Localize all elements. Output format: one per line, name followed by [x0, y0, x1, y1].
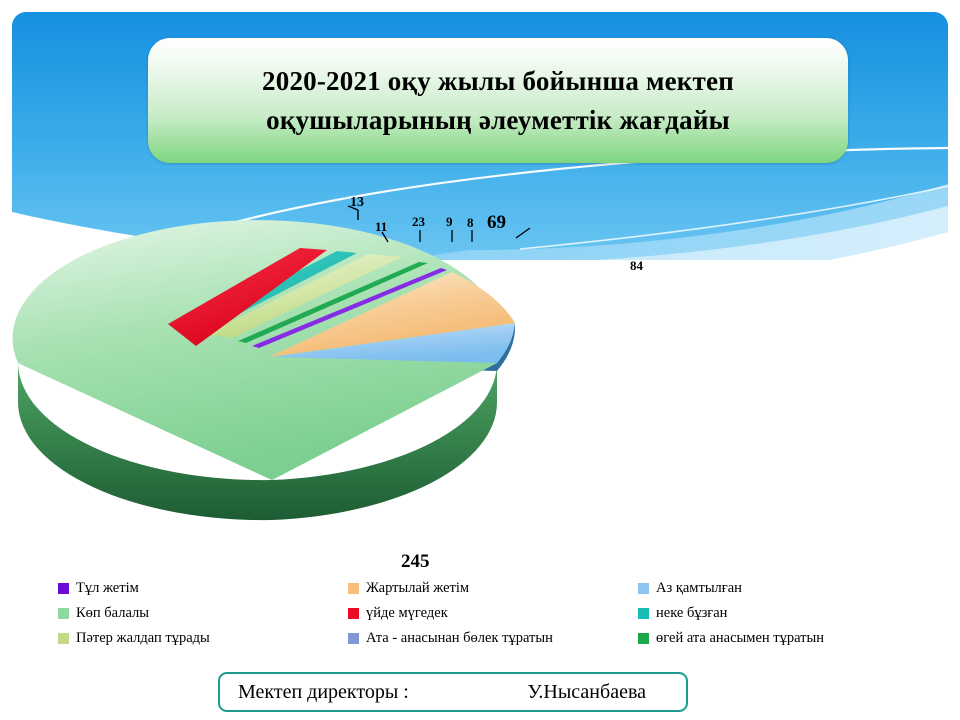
legend-label: үйде мүгедек — [366, 606, 448, 621]
pie-chart — [0, 180, 960, 580]
signature-box: Мектеп директоры : У.Нысанбаева — [218, 672, 688, 712]
director-name: У.Нысанбаева — [528, 681, 646, 704]
pie-data-label: 9 — [446, 214, 453, 230]
legend-item[interactable]: неке бұзған — [638, 601, 908, 626]
legend-swatch-icon — [638, 608, 649, 619]
legend-label: өгей ата анасымен тұратын — [656, 631, 824, 646]
page-title: 2020-2021 оқу жылы бойынша мектеп оқушыл… — [238, 62, 758, 139]
leader-line-69 — [516, 228, 530, 238]
legend-swatch-icon — [58, 608, 69, 619]
legend-swatch-icon — [638, 633, 649, 644]
legend-label: Аз қамтылған — [656, 581, 742, 596]
legend-item[interactable]: Көп балалы — [58, 601, 348, 626]
legend-label: Жартылай жетім — [366, 581, 469, 596]
pie-data-label: 84 — [630, 258, 643, 274]
pie-chart-graphic — [0, 180, 960, 580]
pie-data-label: 23 — [412, 214, 425, 230]
legend-swatch-icon — [638, 583, 649, 594]
legend-swatch-icon — [348, 608, 359, 619]
legend-item[interactable]: үйде мүгедек — [348, 601, 638, 626]
legend-label: Пәтер жалдап тұрады — [76, 631, 210, 646]
legend-label: Ата - анасынан бөлек тұратын — [366, 631, 553, 646]
legend-item[interactable]: Тұл жетім — [58, 576, 348, 601]
legend-swatch-icon — [348, 633, 359, 644]
title-plate: 2020-2021 оқу жылы бойынша мектеп оқушыл… — [148, 38, 848, 163]
title-line-2: оқушыларының әлеуметтік жағдайы — [266, 105, 730, 135]
director-role-label: Мектеп директоры : — [238, 681, 409, 704]
pie-data-label: 8 — [467, 215, 474, 231]
pie-data-label: 69 — [487, 212, 506, 234]
legend-swatch-icon — [348, 583, 359, 594]
legend-label: Тұл жетім — [76, 581, 139, 596]
legend-item[interactable]: Ата - анасынан бөлек тұратын — [348, 626, 638, 651]
slide-canvas: 2020-2021 оқу жылы бойынша мектеп оқушыл… — [0, 0, 960, 720]
legend-item[interactable]: өгей ата анасымен тұратын — [638, 626, 908, 651]
title-line-1: 2020-2021 оқу жылы бойынша мектеп — [262, 66, 734, 96]
legend-label: неке бұзған — [656, 606, 727, 621]
legend-swatch-icon — [58, 583, 69, 594]
legend-item[interactable]: Аз қамтылған — [638, 576, 908, 601]
legend-item[interactable]: Пәтер жалдап тұрады — [58, 626, 348, 651]
legend-item[interactable]: Жартылай жетім — [348, 576, 638, 601]
pie-data-label: 245 — [401, 551, 430, 573]
legend-label: Көп балалы — [76, 606, 149, 621]
pie-data-label: 13 — [350, 195, 364, 211]
chart-legend: Тұл жетімЖартылай жетімАз қамтылғанКөп б… — [58, 576, 908, 652]
legend-swatch-icon — [58, 633, 69, 644]
pie-data-label: 11 — [375, 219, 387, 235]
